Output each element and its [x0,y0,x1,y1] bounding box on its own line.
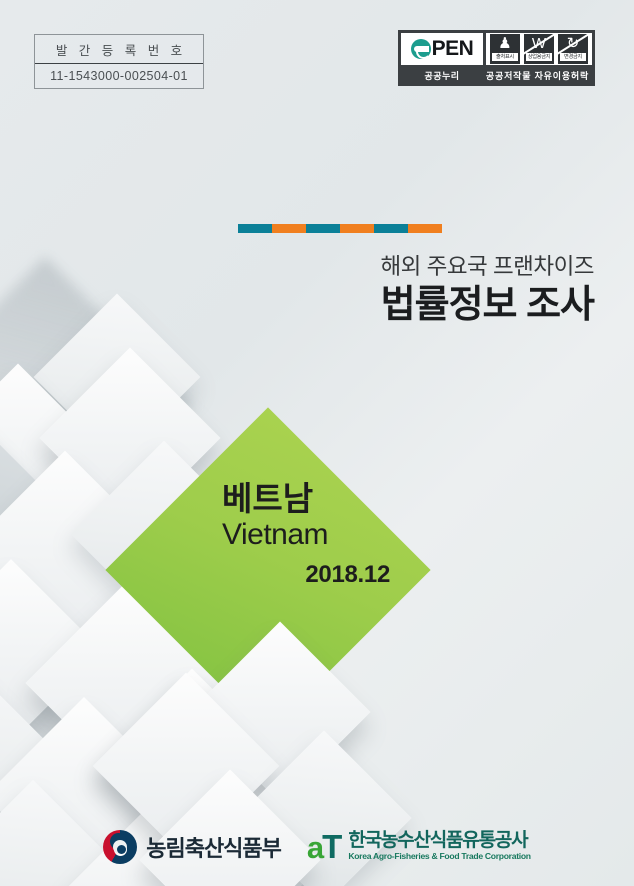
corporation-name-block: 한국농수산식품유통공사 Korea Agro-Fisheries & Food … [348,831,530,862]
attribution-caption: 출처표시 [492,53,518,61]
registration-number-box: 발 간 등 록 번 호 11-1543000-002504-01 [34,34,204,89]
report-cover-page: 베트남 Vietnam 2018.12 발 간 등 록 번 호 11-15430… [0,0,634,886]
taegeuk-icon [103,830,137,864]
dash-segment [238,224,272,233]
background-diamond [0,363,109,544]
corporation-name-english: Korea Agro-Fisheries & Food Trade Corpor… [348,851,530,862]
decorative-dash-bar [0,224,594,233]
kogl-open-license-badge: PEN ♟ 출처표시 W 상업용금지 ↻ 변경금지 공 [398,30,595,86]
footer-logos: 농림축산식품부 a T 한국농수산식품유통공사 Korea Agro-Fishe… [0,830,634,864]
ministry-logo: 농림축산식품부 [103,830,281,864]
title-block: 해외 주요국 프랜차이즈 법률정보 조사 [0,224,594,327]
dash-segment [408,224,442,233]
attribution-glyph: ♟ [498,34,511,53]
open-circle-icon [411,39,431,59]
noncommercial-caption: 상업용금지 [526,53,552,61]
corporation-logo: a T 한국농수산식품유통공사 Korea Agro-Fisheries & F… [307,831,531,862]
dash-segment [272,224,306,233]
at-logomark: a T [307,832,341,862]
background-diamond-pattern [0,0,634,886]
report-subtitle: 해외 주요국 프랜차이즈 [0,249,594,281]
kogl-license-label: 공공저작물 자유이용허락 [483,69,592,82]
dash-segment [306,224,340,233]
taegeuk-inner-dot [117,845,126,854]
registration-number-label: 발 간 등 록 번 호 [35,35,203,64]
dash-segment [374,224,408,233]
dash-segment [340,224,374,233]
license-condition-icons: ♟ 출처표시 W 상업용금지 ↻ 변경금지 [486,33,592,65]
country-name-korean: 베트남 [222,482,392,517]
registration-number-value: 11-1543000-002504-01 [35,64,203,88]
open-logo: PEN [401,33,483,65]
noncommercial-icon: W 상업용금지 [524,34,554,64]
ministry-name: 농림축산식품부 [146,831,281,863]
attribution-icon: ♟ 출처표시 [490,34,520,64]
noderivatives-caption: 변경금지 [560,53,586,61]
kogl-brand-label: 공공누리 [401,69,483,82]
report-title: 법률정보 조사 [0,283,594,327]
foreground-diamond-pattern [0,0,634,886]
at-mark-a: a [307,834,322,863]
corporation-name-korean: 한국농수산식품유통공사 [348,831,530,851]
noderivatives-icon: ↻ 변경금지 [558,34,588,64]
background-diamond [171,761,341,886]
country-label: 베트남 Vietnam 2018.12 [222,482,392,589]
country-name-english: Vietnam [222,517,392,554]
background-diamond [139,769,320,886]
background-diamond [0,426,70,604]
background-diamond [0,662,62,852]
kogl-badge-bottom: 공공누리 공공저작물 자유이용허락 [401,68,592,83]
at-mark-t: T [322,832,341,862]
background-diamond [0,559,103,743]
open-logo-text: PEN [432,37,474,61]
publication-date: 2018.12 [222,561,392,589]
kogl-badge-top: PEN ♟ 출처표시 W 상업용금지 ↻ 변경금지 [401,33,592,65]
